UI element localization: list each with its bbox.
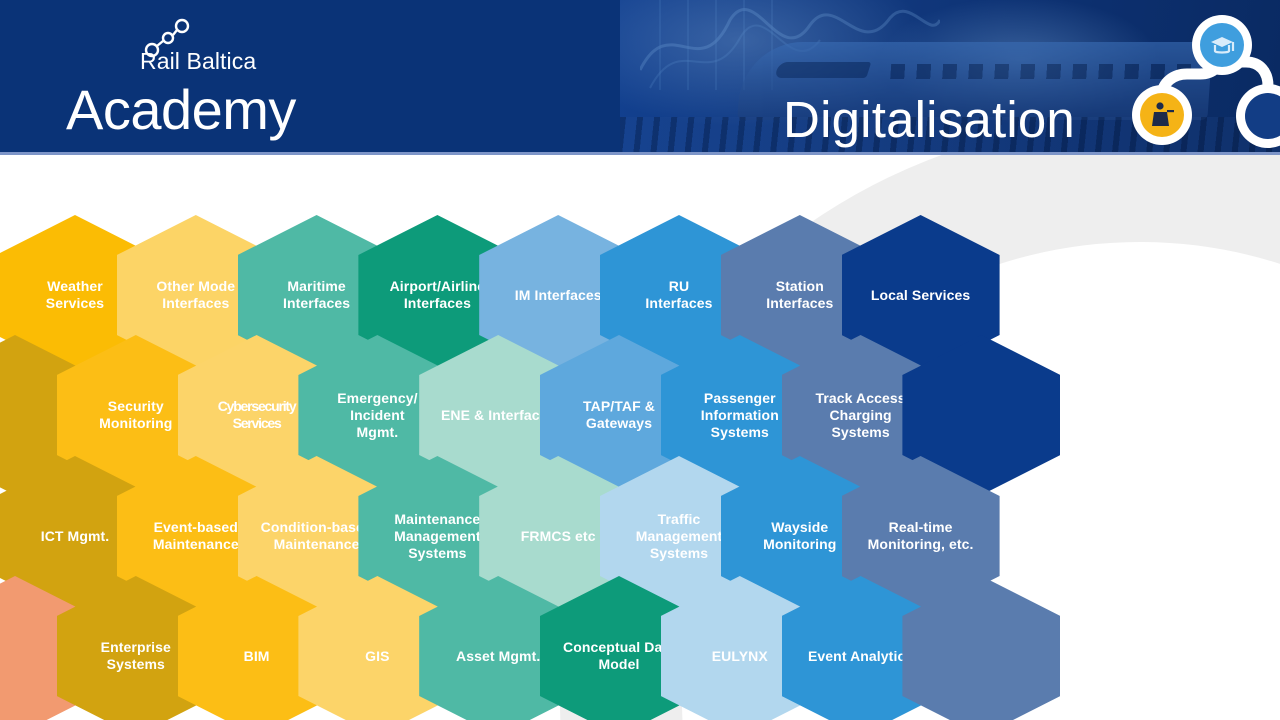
hex-label: RU Interfaces — [645, 278, 712, 312]
hex-label: GIS — [365, 648, 389, 665]
hex-label: Traffic Management Systems — [636, 511, 723, 562]
logo-rail-baltica-text: Rail Baltica — [140, 48, 256, 75]
hex-label: Maritime Interfaces — [283, 278, 350, 312]
hex-label: Weather Services — [16, 278, 134, 312]
page-title: Digitalisation — [783, 92, 1075, 148]
hex-label: Real-time Monitoring, etc. — [868, 519, 974, 553]
hex-label: Airport/Airline Interfaces — [390, 278, 486, 312]
hex-label: BIM — [244, 648, 270, 665]
slide-header: Rail Baltica Academy Digitalisation — [0, 0, 1280, 155]
hex-label: Condition-based Maintenance — [261, 519, 373, 553]
header-node-graph — [1050, 0, 1280, 155]
rail-baltica-academy-logo: Rail Baltica Academy — [66, 46, 366, 140]
hex-label: Local Services — [871, 287, 970, 304]
hex-label: Emergency/ Incident Mgmt. — [337, 390, 417, 441]
logo-academy-text: Academy — [66, 80, 366, 140]
hex-label: Enterprise Systems — [77, 639, 195, 673]
hex-label: Track Access Charging Systems — [802, 390, 920, 441]
hex-label: FRMCS etc — [521, 528, 596, 545]
hex-label: Security Monitoring — [99, 398, 172, 432]
hex-label: Maintenance Management Systems — [394, 511, 481, 562]
hex-label: Asset Mgmt. — [456, 648, 540, 665]
hexagon-grid: Weather ServicesOther Mode InterfacesMar… — [0, 155, 1280, 720]
hex-label: Station Interfaces — [741, 278, 859, 312]
hex-label: Cybersecurity Services — [218, 398, 296, 432]
slide-canvas: Rail Baltica Academy Digitalisation — [0, 0, 1280, 720]
hex-label: Wayside Monitoring — [763, 519, 836, 553]
hex-label: ENE & Interfaces — [441, 407, 555, 424]
hex-label: ICT Mgmt. — [41, 528, 110, 545]
hex-label: Other Mode Interfaces — [156, 278, 235, 312]
hex-label: Event Analytics — [808, 648, 913, 665]
hex-label: IM Interfaces — [515, 287, 602, 304]
hex-label: TAP/TAF & Gateways — [583, 398, 655, 432]
hex-label: EULYNX — [712, 648, 768, 665]
hex-label: Passenger Information Systems — [701, 390, 779, 441]
hex-label: Event-based Maintenance — [153, 519, 239, 553]
hex-label: Conceptual Data Model — [563, 639, 675, 673]
